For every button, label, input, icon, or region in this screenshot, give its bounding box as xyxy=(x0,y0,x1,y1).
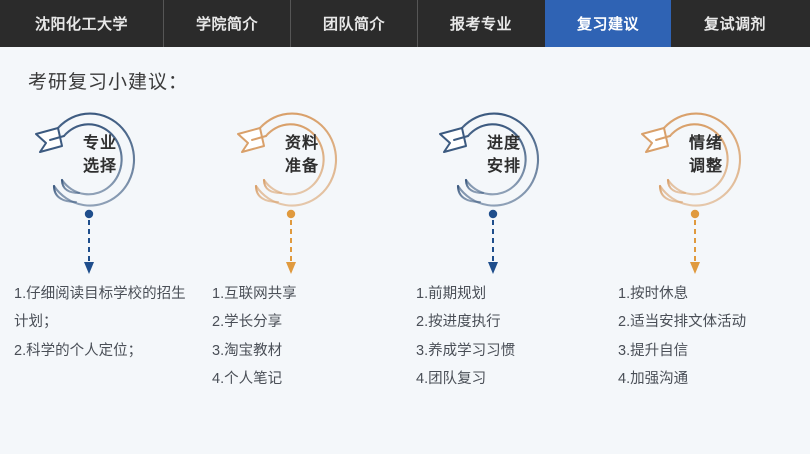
loop-label-line1: 专业 xyxy=(52,132,148,155)
connector-dot xyxy=(85,210,93,218)
arrow-head-icon xyxy=(286,262,296,274)
top-navigation-bar: 沈阳化工大学学院简介团队简介报考专业复习建议复试调剂 xyxy=(0,0,810,47)
nav-tab-3[interactable]: 报考专业 xyxy=(418,0,544,47)
list-item: 1.按时休息 xyxy=(618,280,810,308)
list-item: 2.适当安排文体活动 xyxy=(618,308,810,336)
advice-list-2: 1.互联网共享2.学长分享3.淘宝教材4.个人笔记 xyxy=(212,280,397,393)
list-item: 4.加强沟通 xyxy=(618,365,810,393)
loop-label-line2: 选择 xyxy=(52,155,148,178)
loop-label-line1: 资料 xyxy=(254,132,350,155)
list-item: 3.养成学习习惯 xyxy=(416,337,602,365)
loop-label-line1: 进度 xyxy=(456,132,552,155)
list-item: 2.按进度执行 xyxy=(416,308,602,336)
nav-tab-0[interactable]: 沈阳化工大学 xyxy=(0,0,163,47)
loop-label-1: 专业选择 xyxy=(52,132,148,178)
loop-label-3: 进度安排 xyxy=(456,132,552,178)
loop-label-line1: 情绪 xyxy=(658,132,754,155)
advice-column-2: 资料准备1.互联网共享2.学长分享3.淘宝教材4.个人笔记 xyxy=(202,102,404,447)
nav-tab-4[interactable]: 复习建议 xyxy=(545,0,671,47)
list-item: 1.前期规划 xyxy=(416,280,602,308)
connector-dot xyxy=(691,210,699,218)
connector-dot xyxy=(489,210,497,218)
loop-graphic-1: 专业选择 xyxy=(0,102,202,222)
arrow-head-icon xyxy=(690,262,700,274)
loop-label-4: 情绪调整 xyxy=(658,132,754,178)
arrow-head-icon xyxy=(84,262,94,274)
advice-list-3: 1.前期规划2.按进度执行3.养成学习习惯4.团队复习 xyxy=(416,280,602,393)
advice-list-4: 1.按时休息2.适当安排文体活动3.提升自信4.加强沟通 xyxy=(618,280,810,393)
loop-label-line2: 调整 xyxy=(658,155,754,178)
advice-columns: 专业选择1.仔细阅读目标学校的招生计划；2.科学的个人定位；资料准备1.互联网共… xyxy=(0,102,810,447)
list-item: 3.淘宝教材 xyxy=(212,337,397,365)
advice-column-4: 情绪调整1.按时休息2.适当安排文体活动3.提升自信4.加强沟通 xyxy=(606,102,808,447)
list-item: 2.科学的个人定位； xyxy=(14,337,194,365)
loop-label-2: 资料准备 xyxy=(254,132,350,178)
list-item: 1.仔细阅读目标学校的招生计划； xyxy=(14,280,194,337)
loop-label-line2: 安排 xyxy=(456,155,552,178)
dashed-connector xyxy=(630,210,760,278)
list-item: 3.提升自信 xyxy=(618,337,810,365)
loop-graphic-4: 情绪调整 xyxy=(606,102,808,222)
loop-graphic-3: 进度安排 xyxy=(404,102,606,222)
advice-column-3: 进度安排1.前期规划2.按进度执行3.养成学习习惯4.团队复习 xyxy=(404,102,606,447)
dashed-connector xyxy=(226,210,356,278)
page-title: 考研复习小建议： xyxy=(28,67,188,94)
advice-column-1: 专业选择1.仔细阅读目标学校的招生计划；2.科学的个人定位； xyxy=(0,102,202,447)
loop-graphic-2: 资料准备 xyxy=(202,102,404,222)
nav-tab-2[interactable]: 团队简介 xyxy=(291,0,417,47)
nav-filler xyxy=(798,0,810,47)
list-item: 2.学长分享 xyxy=(212,308,397,336)
page-content: 考研复习小建议： 专业选择1.仔细阅读目标学校的招生计划；2.科学的个人定位；资… xyxy=(0,47,810,454)
advice-list-1: 1.仔细阅读目标学校的招生计划；2.科学的个人定位； xyxy=(14,280,194,365)
arrow-head-icon xyxy=(488,262,498,274)
loop-label-line2: 准备 xyxy=(254,155,350,178)
nav-tab-1[interactable]: 学院简介 xyxy=(164,0,290,47)
nav-tab-5[interactable]: 复试调剂 xyxy=(672,0,798,47)
connector-dot xyxy=(287,210,295,218)
dashed-connector xyxy=(24,210,154,278)
list-item: 4.个人笔记 xyxy=(212,365,397,393)
list-item: 1.互联网共享 xyxy=(212,280,397,308)
list-item: 4.团队复习 xyxy=(416,365,602,393)
dashed-connector xyxy=(428,210,558,278)
